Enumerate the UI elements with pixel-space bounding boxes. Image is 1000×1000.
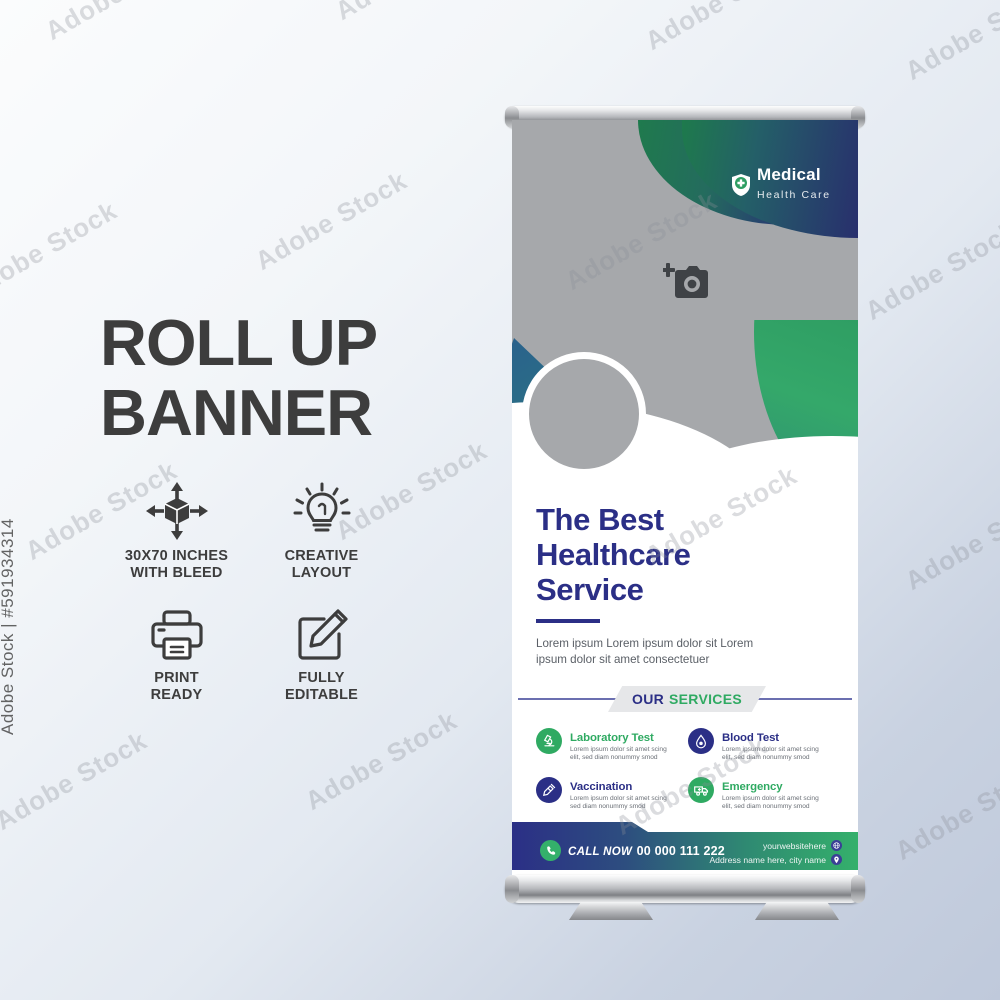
feature-editable-label-2: EDITABLE [249, 687, 394, 704]
service-desc-line2: elit, sed diam nonummy smod [722, 803, 819, 811]
watermark: Adobe Stock [890, 755, 1000, 867]
banner-footer-bar: CALL NOW 00 000 111 222 yourwebsitehere [512, 822, 858, 870]
feature-size-label-1: 30X70 INCHES [104, 548, 249, 565]
banner-artwork-panel: Medical Health Care The Best Healthcare … [512, 120, 858, 880]
brand-name: Medical [757, 165, 821, 184]
edit-pencil-icon [249, 600, 394, 662]
phone-icon [540, 840, 561, 861]
service-desc-line1: Lorem ipsum dolor sit amet scing [570, 795, 667, 803]
service-text: Vaccination Lorem ipsum dolor sit amet s… [570, 777, 667, 812]
rail-cap-left [505, 875, 519, 903]
headline-subtext-line2: ipsum dolor sit amet consectetuer [536, 652, 836, 669]
circular-photo-placeholder [522, 352, 646, 476]
service-text: Emergency Lorem ipsum dolor sit amet sci… [722, 777, 819, 812]
feature-creative: CREATIVE LAYOUT [249, 478, 394, 600]
watermark: Adobe Stock [860, 215, 1000, 327]
call-now-block[interactable]: CALL NOW 00 000 111 222 [540, 840, 725, 861]
banner-foot-right [755, 902, 839, 920]
service-desc: Lorem ipsum dolor sit amet scing elit, s… [570, 746, 667, 763]
service-text: Laboratory Test Lorem ipsum dolor sit am… [570, 728, 667, 763]
size-arrows-cube-icon [104, 478, 249, 540]
location-pin-icon [831, 854, 842, 865]
service-desc: Lorem ipsum dolor sit amet scing sed dia… [570, 795, 667, 812]
feature-row: PRINT READY FULLY EDITABLE [104, 600, 394, 722]
microscope-icon [536, 728, 562, 754]
ambulance-icon [688, 777, 714, 803]
headline-subtext: Lorem ipsum Lorem ipsum dolor sit Lorem … [536, 636, 836, 669]
rail-cap-right [851, 875, 865, 903]
feature-size-label: 30X70 INCHES WITH BLEED [104, 548, 249, 582]
feature-creative-label-1: CREATIVE [249, 548, 394, 565]
call-now-label: CALL NOW [568, 846, 632, 858]
feature-editable: FULLY EDITABLE [249, 600, 394, 722]
promo-title-line2: BANNER [100, 378, 430, 448]
blood-drop-icon [688, 728, 714, 754]
headline-block: The Best Healthcare Service Lorem ipsum … [536, 502, 836, 669]
feature-creative-label-2: LAYOUT [249, 565, 394, 582]
feature-print-label-1: PRINT [104, 670, 249, 687]
address-text: Address name here, city name [709, 855, 826, 865]
service-title: Vaccination [570, 781, 632, 793]
website-row[interactable]: yourwebsitehere [709, 840, 842, 851]
promo-panel: ROLL UP BANNER [0, 0, 470, 1000]
feature-print-label: PRINT READY [104, 670, 249, 704]
lightbulb-icon [249, 478, 394, 540]
feature-print: PRINT READY [104, 600, 249, 722]
service-title: Blood Test [722, 732, 779, 744]
website-text: yourwebsitehere [763, 841, 826, 851]
service-title: Emergency [722, 781, 783, 793]
headline-line1: The Best [536, 502, 836, 537]
headline-subtext-line1: Lorem ipsum Lorem ipsum dolor sit Lorem [536, 636, 836, 653]
watermark: Adobe Stock [640, 0, 803, 57]
headline-accent-rule [536, 619, 600, 623]
services-header-ribbon: OUR SERVICES [608, 686, 766, 712]
watermark: Adobe Stock [900, 485, 1000, 597]
banner-hero-art: Medical Health Care [512, 120, 858, 490]
services-header-word2: SERVICES [669, 691, 742, 707]
service-item-emergency[interactable]: Emergency Lorem ipsum dolor sit amet sci… [688, 777, 840, 812]
headline-line3: Service [536, 572, 836, 607]
page-title: ROLL UP BANNER [100, 308, 430, 448]
brand-logo: Medical Health Care [731, 166, 858, 203]
banner-foot-left [569, 902, 653, 920]
headline-line2: Healthcare [536, 537, 836, 572]
service-desc-line1: Lorem ipsum dolor sit amet scing [722, 795, 819, 803]
brand-tagline: Health Care [757, 189, 831, 201]
globe-icon [831, 840, 842, 851]
services-header: OUR SERVICES [512, 686, 858, 712]
stock-id-watermark: Adobe Stock | #591934314 [0, 518, 18, 735]
services-header-word1: OUR [632, 691, 664, 707]
shield-cross-icon [731, 173, 751, 197]
services-grid: Laboratory Test Lorem ipsum dolor sit am… [536, 728, 842, 812]
service-desc-line2: sed diam nonummy smod [570, 803, 667, 811]
feature-row: 30X70 INCHES WITH BLEED [104, 478, 394, 600]
feature-editable-label-1: FULLY [249, 670, 394, 687]
printer-icon [104, 600, 249, 662]
watermark: Adobe Stock [900, 0, 1000, 87]
service-title: Laboratory Test [570, 732, 654, 744]
call-now-text: CALL NOW 00 000 111 222 [568, 842, 725, 860]
service-item-blood-test[interactable]: Blood Test Lorem ipsum dolor sit amet sc… [688, 728, 840, 763]
brand-logo-text: Medical Health Care [757, 166, 858, 203]
feature-size: 30X70 INCHES WITH BLEED [104, 478, 249, 600]
service-desc: Lorem ipsum dolor sit amet scing elit, s… [722, 746, 819, 763]
rollup-banner: Medical Health Care The Best Healthcare … [505, 100, 865, 945]
feature-creative-label: CREATIVE LAYOUT [249, 548, 394, 582]
service-text: Blood Test Lorem ipsum dolor sit amet sc… [722, 728, 819, 763]
feature-size-label-2: WITH BLEED [104, 565, 249, 582]
headline: The Best Healthcare Service [536, 502, 836, 607]
service-desc-line2: elit, sed diam nonummy smod [570, 754, 667, 762]
add-photo-icon [663, 260, 709, 305]
feature-grid: 30X70 INCHES WITH BLEED [104, 478, 394, 722]
service-desc-line2: elit, sed diam nonummy smod [722, 754, 819, 762]
contact-block: yourwebsitehere Address name here, city … [709, 840, 842, 868]
feature-editable-label: FULLY EDITABLE [249, 670, 394, 704]
service-item-laboratory-test[interactable]: Laboratory Test Lorem ipsum dolor sit am… [536, 728, 688, 763]
syringe-icon [536, 777, 562, 803]
service-desc-line1: Lorem ipsum dolor sit amet scing [570, 746, 667, 754]
feature-print-label-2: READY [104, 687, 249, 704]
service-item-vaccination[interactable]: Vaccination Lorem ipsum dolor sit amet s… [536, 777, 688, 812]
address-row: Address name here, city name [709, 854, 842, 865]
service-desc: Lorem ipsum dolor sit amet scing elit, s… [722, 795, 819, 812]
service-desc-line1: Lorem ipsum dolor sit amet scing [722, 746, 819, 754]
banner-bottom-rail [505, 875, 865, 903]
promo-title-line1: ROLL UP [100, 306, 377, 379]
